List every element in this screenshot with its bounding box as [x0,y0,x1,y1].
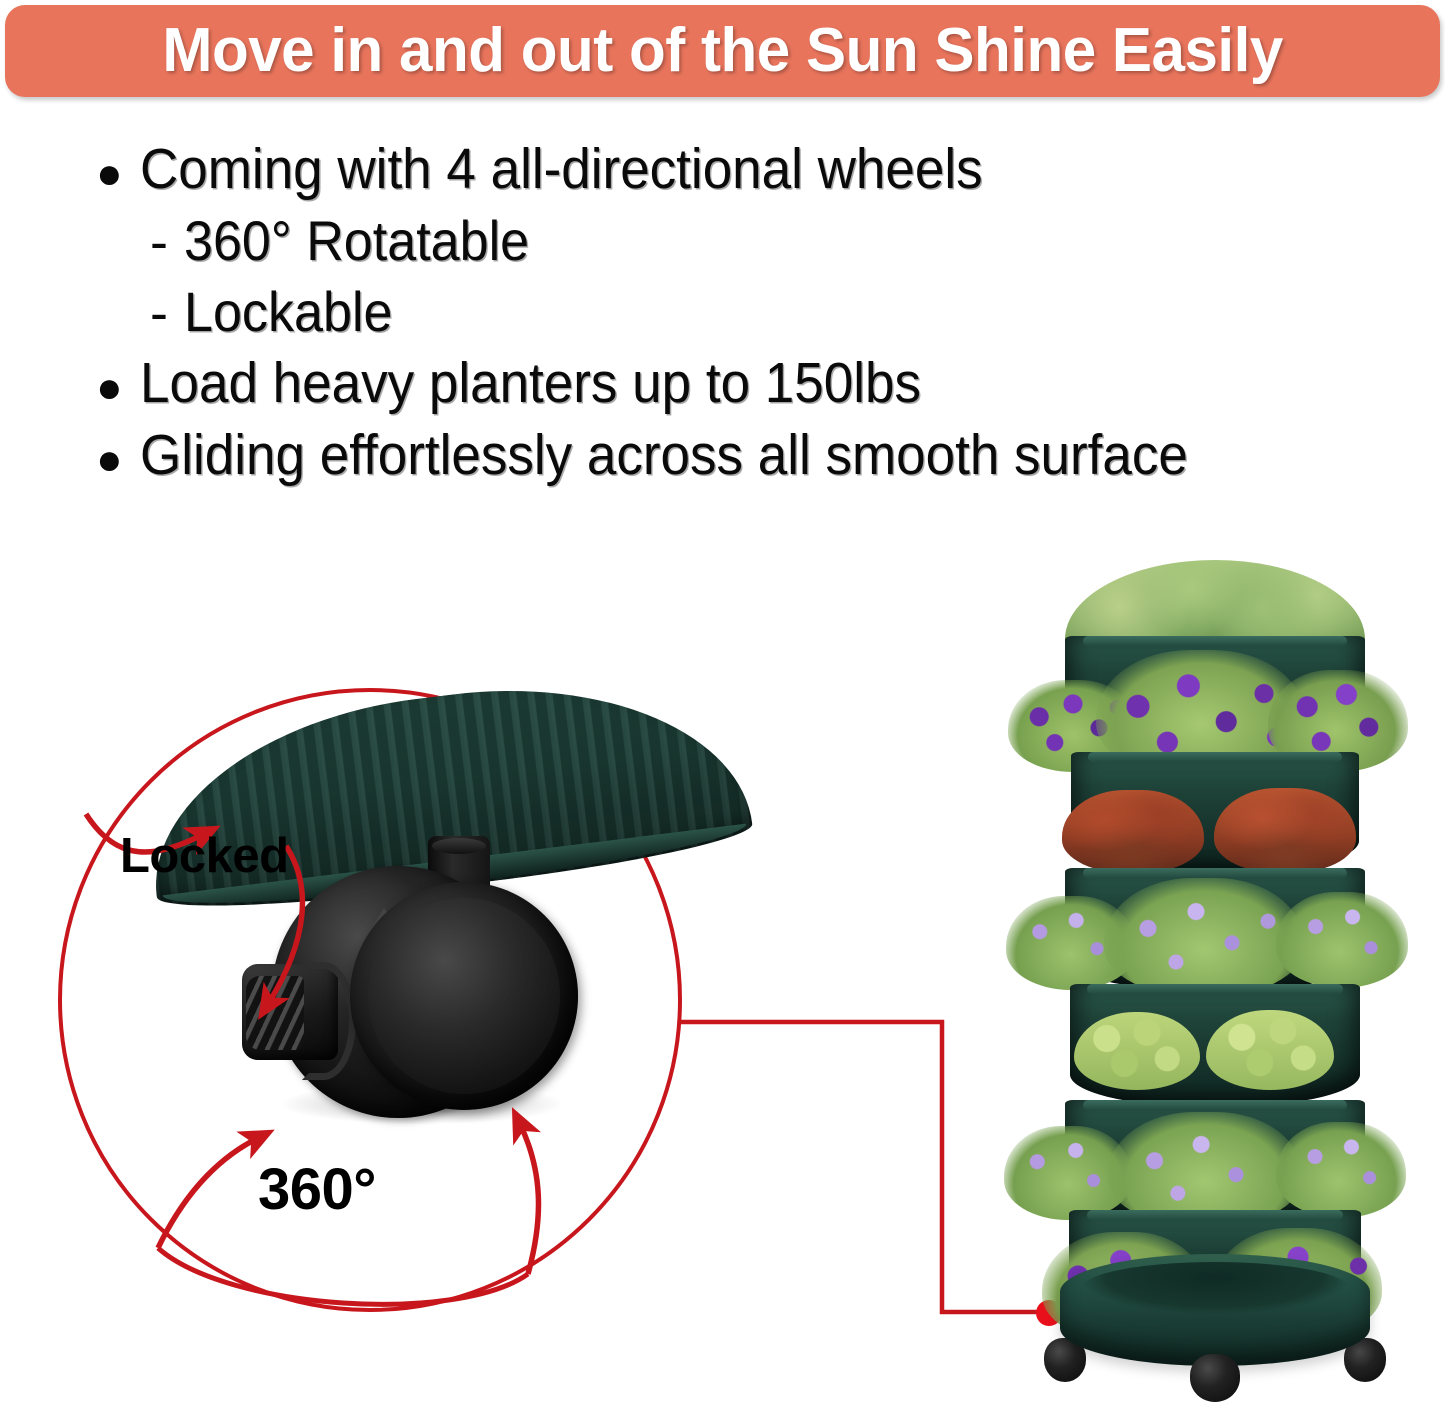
rotation-label: 360° [258,1156,376,1223]
tier-4-plant-left [1074,1012,1200,1090]
connector-path [680,1022,1050,1312]
tier-3-flowers-center [1104,878,1304,998]
feature-item: ● Coming with 4 all-directional wheels [96,140,1436,198]
tier-3-flowers-right [1276,892,1408,988]
caster-detail-callout: Locked 360° [58,688,682,1312]
feature-label: Load heavy planters up to 150lbs [140,354,921,412]
dash-icon: - [150,286,184,340]
rotation-right-arrow-icon [520,1124,538,1274]
rotation-left-arrow-icon [158,1138,258,1248]
dash-icon: - [150,215,184,269]
tier-2-plant-right [1214,788,1356,874]
bullet-icon: ● [96,366,140,410]
feature-sublabel: 360° Rotatable [184,212,529,269]
feature-list: ● Coming with 4 all-directional wheels -… [96,140,1436,499]
feature-subitem: - 360° Rotatable [96,212,1436,269]
page-title: Move in and out of the Sun Shine Easily [162,20,1283,82]
tier-4-plant-right [1206,1010,1334,1090]
feature-label: Coming with 4 all-directional wheels [140,140,983,198]
stacking-planter-tower [1000,560,1430,1390]
caddy-caster-wheel-front [1190,1354,1240,1402]
header-banner: Move in and out of the Sun Shine Easily [5,5,1440,97]
feature-label: Gliding effortlessly across all smooth s… [140,426,1188,484]
feature-item: ● Gliding effortlessly across all smooth… [96,426,1436,484]
tier-5-flowers-right [1276,1122,1406,1218]
feature-subitem: - Lockable [96,283,1436,340]
rotation-sweep-arc [158,1248,528,1304]
feature-item: ● Load heavy planters up to 150lbs [96,354,1436,412]
bullet-icon: ● [96,152,140,196]
tier-2-plant-left [1062,790,1204,874]
rolling-caddy-base [1060,1254,1370,1366]
locked-label: Locked [120,828,289,884]
feature-sublabel: Lockable [184,283,392,340]
bullet-icon: ● [96,438,140,482]
